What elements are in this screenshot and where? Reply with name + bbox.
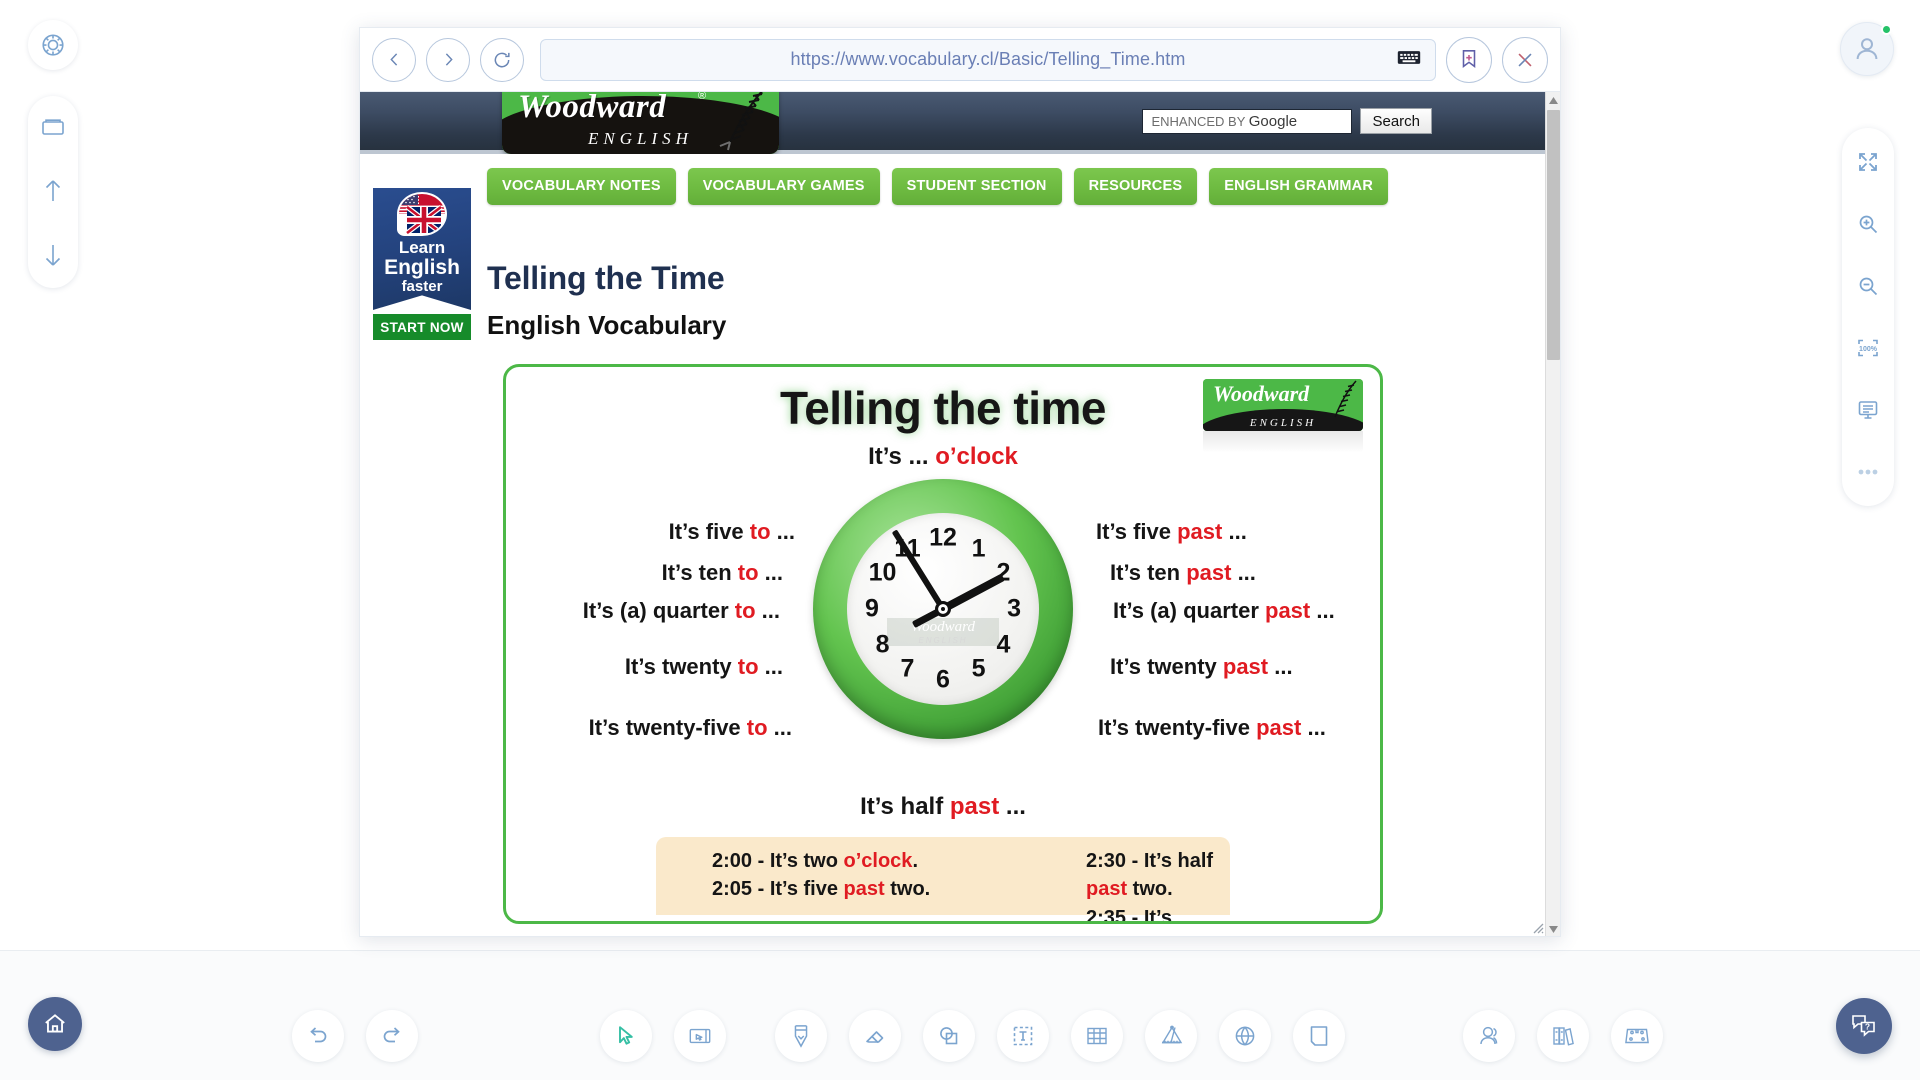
example-row: 2:00 - It’s two o’clock.: [712, 847, 930, 875]
promo-banner[interactable]: Learn English faster START NOW: [373, 188, 471, 340]
back-button[interactable]: [372, 38, 416, 82]
redo-icon[interactable]: [366, 1010, 418, 1062]
undo-icon[interactable]: [292, 1010, 344, 1062]
label-twentyfive-past: It’s twenty-five past ...: [1098, 715, 1326, 741]
expand-icon[interactable]: [1848, 146, 1888, 178]
clock-number-9: 9: [865, 595, 879, 624]
site-search: ENHANCED BY Google Search: [1142, 108, 1432, 134]
site-nav: VOCABULARY NOTES VOCABULARY GAMES STUDEN…: [360, 154, 1548, 218]
pen-icon[interactable]: [775, 1010, 827, 1062]
svg-text:?: ?: [1865, 1022, 1870, 1032]
clock-number-12: 12: [929, 523, 957, 552]
site-header: Woodward ® ENGLISH ENHANCED BY Go: [360, 92, 1548, 154]
right-toolbar: 100%: [1842, 128, 1894, 506]
library-icon[interactable]: [1537, 1010, 1589, 1062]
resize-grip[interactable]: [1530, 920, 1544, 934]
search-button[interactable]: Search: [1360, 108, 1432, 134]
clock-number-1: 1: [972, 534, 986, 563]
toolbox-icon[interactable]: [33, 110, 73, 144]
page-title: Telling the Time: [487, 260, 724, 297]
address-bar[interactable]: https://www.vocabulary.cl/Basic/Telling_…: [540, 39, 1436, 81]
clock-watermark: Woodward ENGLISH: [887, 618, 999, 646]
promo-ribbon: Learn English faster: [373, 188, 471, 310]
label-twenty-to: It’s twenty to ...: [625, 654, 783, 680]
online-status-dot: [1881, 24, 1892, 35]
avatar[interactable]: [1840, 22, 1894, 76]
more-icon[interactable]: [1848, 456, 1888, 488]
keyboard-icon[interactable]: [1397, 49, 1421, 70]
clock-center-pin: [935, 601, 951, 617]
zoom-out-icon[interactable]: [1848, 270, 1888, 302]
table-icon[interactable]: [1071, 1010, 1123, 1062]
flag-speech-bubble-icon: [399, 194, 445, 234]
arrow-up-icon[interactable]: [33, 174, 73, 208]
nav-item-vocabulary-notes[interactable]: VOCABULARY NOTES: [487, 168, 676, 205]
label-oclock: It’s ... o’clock: [506, 443, 1380, 471]
clock-number-3: 3: [1007, 595, 1021, 624]
reload-button[interactable]: [480, 38, 524, 82]
search-placeholder: ENHANCED BY Google: [1151, 113, 1297, 130]
page-icon[interactable]: [1293, 1010, 1345, 1062]
page-viewport[interactable]: Woodward ® ENGLISH ENHANCED BY Go: [360, 91, 1560, 936]
close-button[interactable]: [1502, 37, 1548, 83]
nav-item-vocabulary-games[interactable]: VOCABULARY GAMES: [688, 168, 880, 205]
label-quarter-past: It’s (a) quarter past ...: [1113, 598, 1335, 624]
infographic-logo-name: Woodward: [1213, 381, 1309, 407]
browser-window: https://www.vocabulary.cl/Basic/Telling_…: [359, 27, 1561, 937]
telling-time-infographic: Telling the time Woodward ENGLISH It’s .…: [503, 364, 1383, 924]
nav-button-group: VOCABULARY NOTES VOCABULARY GAMES STUDEN…: [487, 168, 1388, 205]
example-row: 2:35 - It’s twenty-five to three.: [1086, 904, 1230, 924]
drawing-toolbar: [0, 1010, 1920, 1070]
logo-name: Woodward: [518, 91, 666, 126]
globe-icon[interactable]: [1219, 1010, 1271, 1062]
scroll-down-arrow[interactable]: [1546, 921, 1560, 936]
examples-column-left: 2:00 - It’s two o’clock. 2:05 - It’s fiv…: [712, 847, 930, 904]
scroll-up-arrow[interactable]: [1546, 92, 1560, 108]
vertical-scrollbar[interactable]: [1545, 92, 1560, 936]
presentation-icon[interactable]: [1848, 394, 1888, 426]
zoom-reset-icon[interactable]: 100%: [1848, 332, 1888, 364]
promo-line-3: faster: [402, 279, 443, 295]
left-toolbar: [28, 20, 94, 288]
page-subtitle: English Vocabulary: [487, 310, 726, 341]
fern-icon: [1325, 379, 1361, 423]
infographic-logo: Woodward ENGLISH: [1203, 379, 1363, 431]
forward-button[interactable]: [426, 38, 470, 82]
examples-box: 2:00 - It’s two o’clock. 2:05 - It’s fiv…: [656, 837, 1230, 915]
label-ten-past: It’s ten past ...: [1110, 560, 1256, 586]
clock-number-7: 7: [901, 655, 915, 684]
label-ten-to: It’s ten to ...: [662, 560, 783, 586]
label-twenty-past: It’s twenty past ...: [1110, 654, 1293, 680]
settings-icon[interactable]: [28, 20, 78, 70]
bookmark-add-button[interactable]: [1446, 37, 1492, 83]
help-button[interactable]: ?: [1836, 998, 1892, 1054]
tablet-pen-icon[interactable]: [674, 1010, 726, 1062]
arrow-down-icon[interactable]: [33, 238, 73, 272]
users-icon[interactable]: [1463, 1010, 1515, 1062]
clock-number-5: 5: [972, 655, 986, 684]
clock-number-6: 6: [936, 666, 950, 695]
label-five-to: It’s five to ...: [669, 519, 795, 545]
nav-item-resources[interactable]: RESOURCES: [1074, 168, 1198, 205]
start-now-button[interactable]: START NOW: [373, 314, 471, 340]
example-row: 2:05 - It’s five past two.: [712, 875, 930, 903]
clock-number-10: 10: [869, 559, 897, 588]
label-half-past: It’s half past ...: [506, 793, 1380, 821]
clock-face: 12 1 2 3 4 5 6 7 8 9 10 11 Woodward: [847, 513, 1039, 705]
promo-line-1: Learn: [399, 239, 445, 257]
examples-column-right: 2:30 - It’s half past two. 2:35 - It’s t…: [1086, 847, 1230, 924]
select-cursor-icon[interactable]: [600, 1010, 652, 1062]
zoom-in-icon[interactable]: [1848, 208, 1888, 240]
web-page: Woodward ® ENGLISH ENHANCED BY Go: [360, 92, 1548, 218]
eraser-icon[interactable]: [849, 1010, 901, 1062]
clock-watermark-subtitle: ENGLISH: [918, 636, 967, 645]
nav-item-student-section[interactable]: STUDENT SECTION: [892, 168, 1062, 205]
clock-diagram: 12 1 2 3 4 5 6 7 8 9 10 11 Woodward: [813, 479, 1073, 739]
zoom-level-text: 100%: [1859, 346, 1878, 353]
left-tool-pill: [28, 96, 78, 288]
nav-item-english-grammar[interactable]: ENGLISH GRAMMAR: [1209, 168, 1388, 205]
woodward-logo[interactable]: Woodward ® ENGLISH: [502, 91, 779, 154]
promo-line-2: English: [384, 257, 460, 279]
label-quarter-to: It’s (a) quarter to ...: [583, 598, 780, 624]
scrollbar-thumb[interactable]: [1547, 110, 1560, 360]
board-icon[interactable]: [1611, 1010, 1663, 1062]
label-five-past: It’s five past ...: [1096, 519, 1247, 545]
label-twentyfive-to: It’s twenty-five to ...: [589, 715, 792, 741]
geometry-tools-icon[interactable]: [1145, 1010, 1197, 1062]
text-box-icon[interactable]: [997, 1010, 1049, 1062]
shapes-icon[interactable]: [923, 1010, 975, 1062]
logo-registered: ®: [698, 91, 706, 102]
url-text: https://www.vocabulary.cl/Basic/Telling_…: [791, 49, 1186, 70]
fern-icon: [711, 91, 773, 152]
search-input[interactable]: ENHANCED BY Google: [1142, 109, 1352, 134]
example-row: 2:30 - It’s half past two.: [1086, 847, 1230, 904]
browser-toolbar: https://www.vocabulary.cl/Basic/Telling_…: [360, 28, 1560, 91]
